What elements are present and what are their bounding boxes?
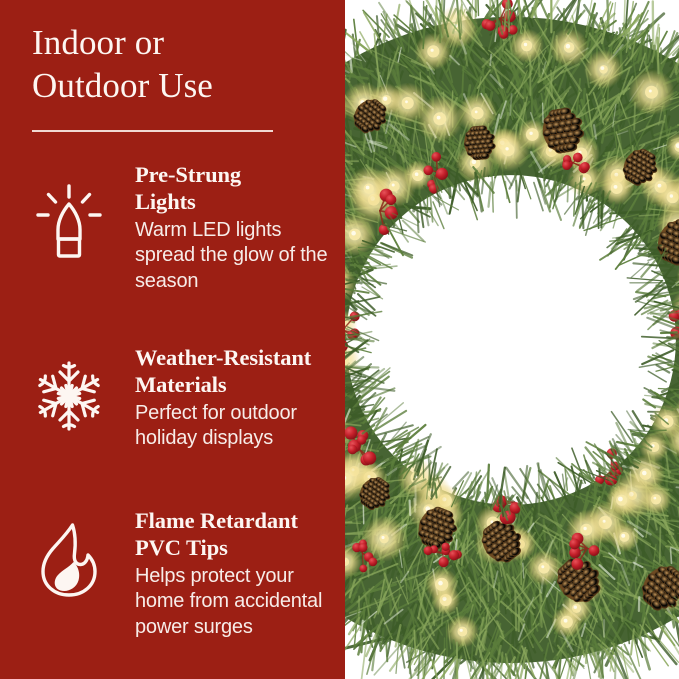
heading-divider [32,130,273,132]
feature-title-line-1: Pre-Strung [135,162,241,187]
snowflake-icon [30,345,108,433]
page-title: Indoor or Outdoor Use [32,22,317,107]
feature-title-line-2: Materials [135,372,227,397]
feature-item-pre-strung-lights: Pre-Strung Lights Warm LED lights spread… [30,162,342,294]
feature-title-line-1: Flame Retardant [135,508,298,533]
flame-icon [30,508,108,598]
feature-title-line-2: Lights [135,189,196,214]
feature-item-flame-retardant-pvc-tips: Flame Retardant PVC Tips Helps protect y… [30,508,342,640]
feature-text-block: Weather-Resistant Materials Perfect for … [108,345,342,452]
light-bulb-icon [30,162,108,260]
feature-panel: Indoor or Outdoor Use [0,0,345,679]
feature-title: Flame Retardant PVC Tips [135,508,342,562]
feature-description: Helps protect your home from accidental … [135,564,342,641]
feature-description: Warm LED lights spread the glow of the s… [135,218,342,295]
feature-title-line-1: Weather-Resistant [135,345,311,370]
feature-title: Pre-Strung Lights [135,162,342,216]
feature-item-weather-resistant-materials: Weather-Resistant Materials Perfect for … [30,345,342,452]
page-title-line-1: Indoor or [32,22,317,65]
feature-description: Perfect for outdoor holiday displays [135,401,342,452]
product-feature-graphic: Indoor or Outdoor Use [0,0,679,679]
feature-title-line-2: PVC Tips [135,535,228,560]
product-photo-wreath [345,0,679,679]
feature-text-block: Flame Retardant PVC Tips Helps protect y… [108,508,342,640]
feature-title: Weather-Resistant Materials [135,345,342,399]
wreath-illustration [345,0,679,679]
page-title-line-2: Outdoor Use [32,65,317,108]
feature-text-block: Pre-Strung Lights Warm LED lights spread… [108,162,342,294]
